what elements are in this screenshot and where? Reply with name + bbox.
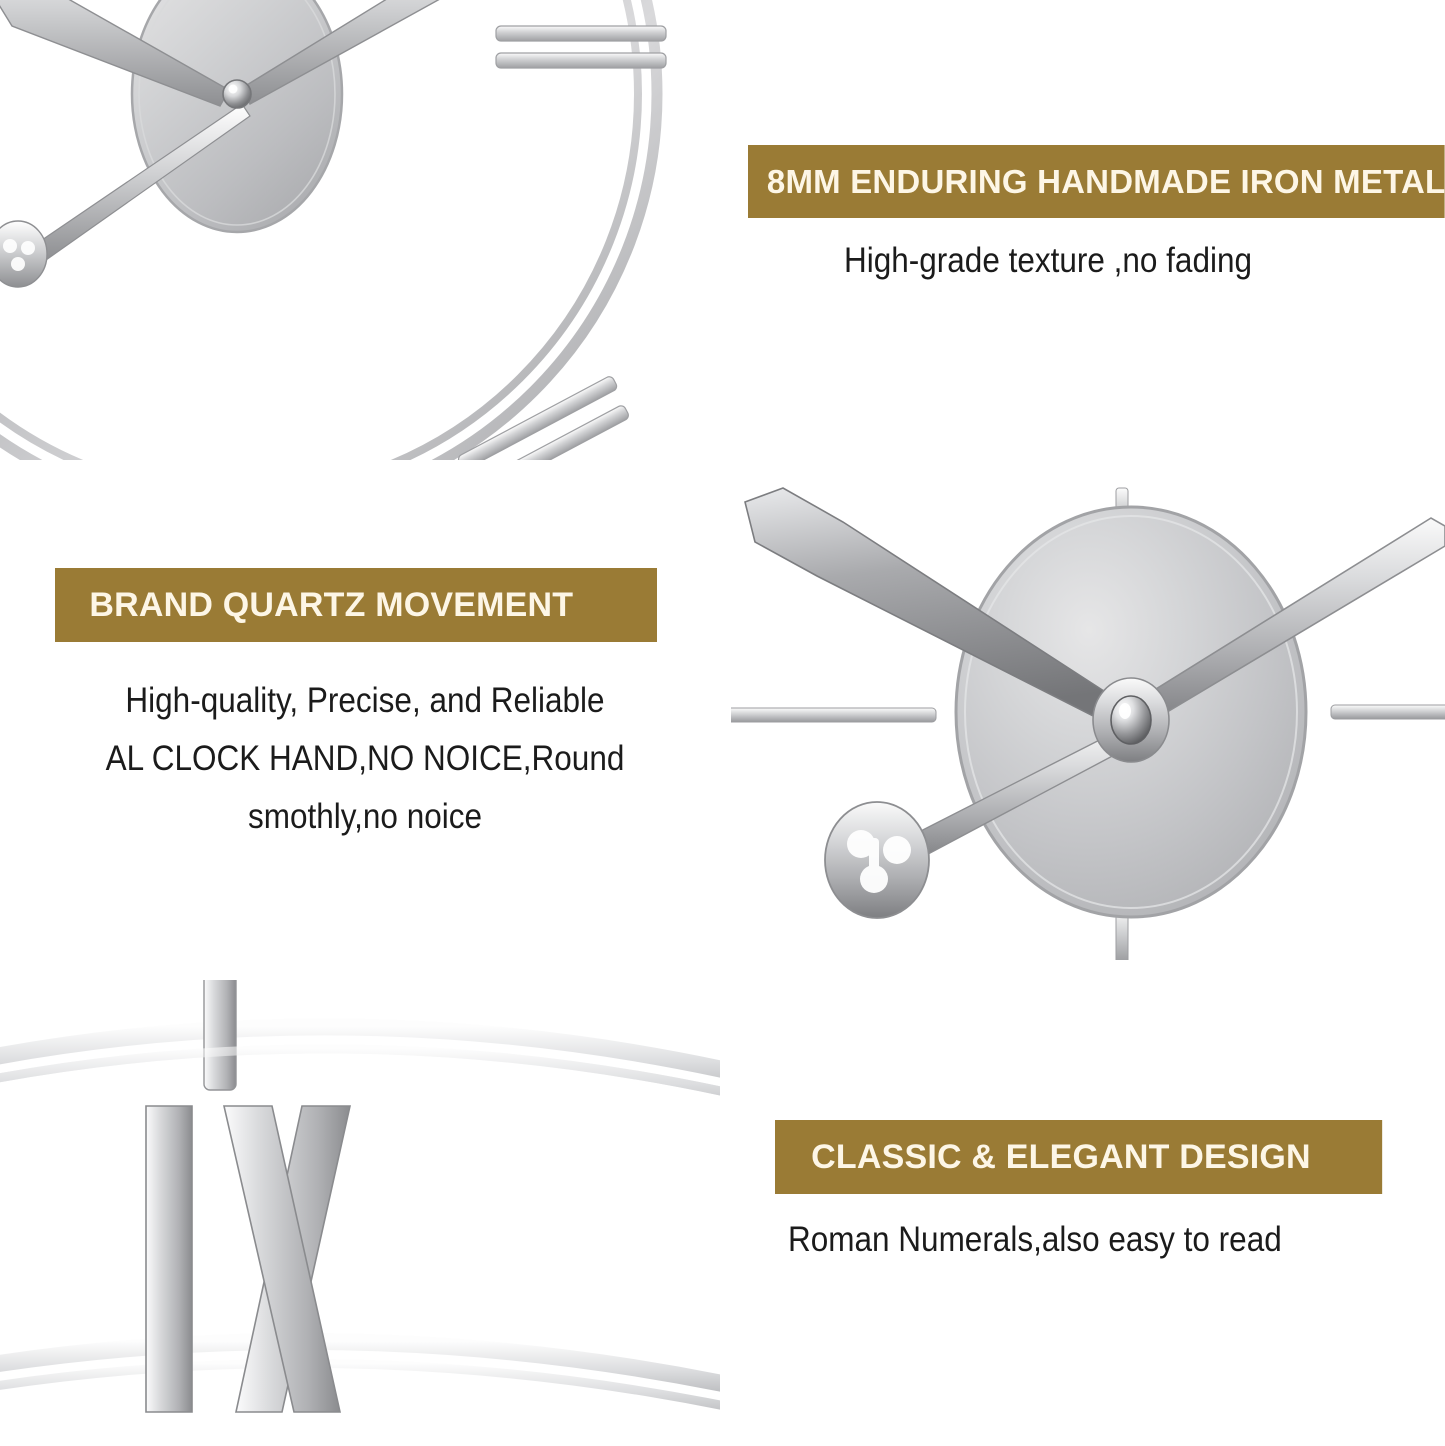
feature-banner-quartz-label: BRAND QUARTZ MOVEMENT: [89, 568, 749, 642]
feature-caption-quartz-line-2: AL CLOCK HAND,NO NOICE,Round: [86, 730, 644, 788]
feature-banner-metal-label: 8MM ENDURING HANDMADE IRON METAL: [767, 145, 1445, 218]
infographic-page: 8MM ENDURING HANDMADE IRON METAL High-gr…: [0, 0, 1445, 1446]
center-hub-illustration: [731, 480, 1445, 960]
feature-banner-design-label: CLASSIC & ELEGANT DESIGN: [811, 1120, 1445, 1194]
feature-caption-design: Roman Numerals,also easy to read: [788, 1220, 1325, 1260]
photo-roman-numeral: [0, 980, 720, 1446]
feature-block-design: CLASSIC & ELEGANT DESIGN Roman Numerals,…: [775, 1120, 1385, 1260]
photo-center-hub: [731, 480, 1445, 960]
feature-caption-metal: High-grade texture ,no fading: [844, 241, 1385, 281]
feature-caption-quartz-line-3: smothly,no noice: [86, 788, 644, 846]
feature-block-quartz: BRAND QUARTZ MOVEMENT High-quality, Prec…: [55, 568, 715, 846]
feature-caption-quartz-line-1: High-quality, Precise, and Reliable: [86, 672, 644, 730]
feature-block-metal: 8MM ENDURING HANDMADE IRON METAL High-gr…: [748, 145, 1445, 281]
photo-clock-face: [0, 0, 720, 460]
roman-numeral-illustration: [0, 980, 720, 1446]
clock-face-illustration: [0, 0, 720, 460]
feature-caption-stack-quartz: High-quality, Precise, and Reliable AL C…: [55, 672, 675, 846]
feature-banner-quartz: BRAND QUARTZ MOVEMENT: [55, 568, 657, 642]
center-pin: [1111, 696, 1151, 744]
feature-banner-design: CLASSIC & ELEGANT DESIGN: [775, 1120, 1382, 1194]
center-pin: [223, 80, 251, 108]
clock-spoke: [204, 980, 236, 1090]
feature-banner-metal: 8MM ENDURING HANDMADE IRON METAL: [748, 145, 1445, 218]
